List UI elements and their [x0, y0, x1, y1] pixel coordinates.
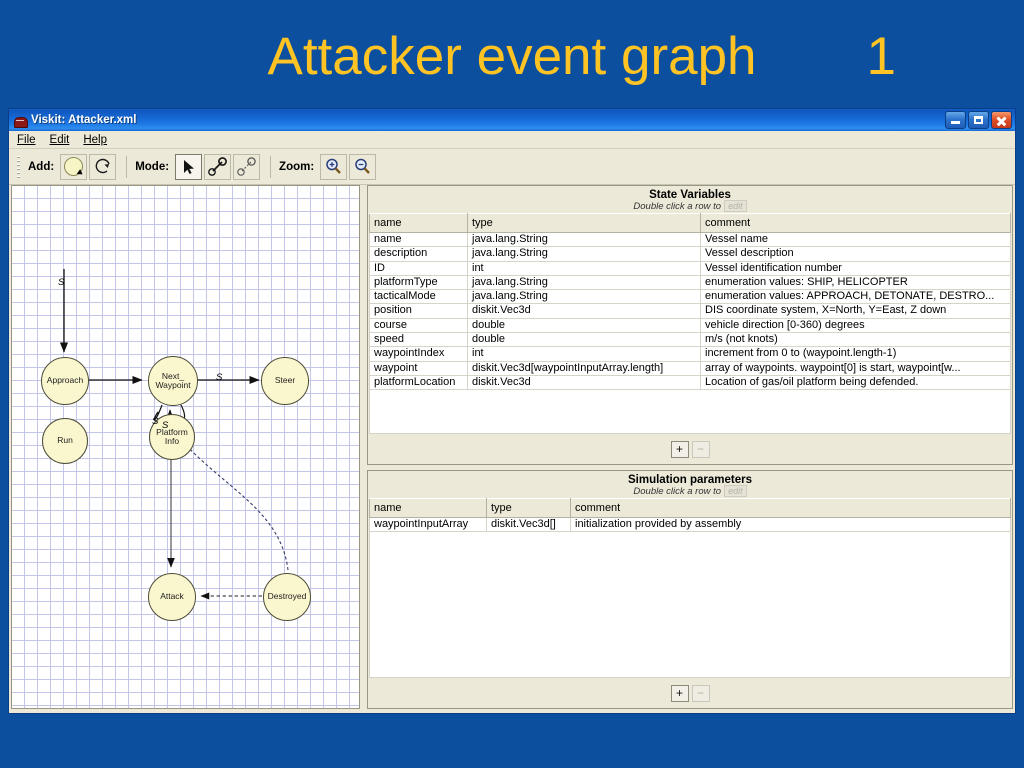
state-variables-subtitle: Double click a row to edit: [368, 200, 1012, 212]
cell-name: waypoint: [370, 361, 468, 375]
state-variables-edit-badge: edit: [724, 200, 747, 212]
add-self-edge-icon: [93, 157, 113, 177]
add-node-icon: [64, 157, 83, 176]
cell-type: diskit.Vec3d[waypointInputArray.length]: [468, 361, 701, 375]
mode-cancelling-edge-button[interactable]: [233, 154, 260, 180]
state-variables-table[interactable]: name type comment namejava.lang.StringVe…: [369, 213, 1011, 390]
zoom-out-icon: [353, 157, 372, 176]
column-header-name[interactable]: name: [370, 499, 487, 518]
toolbar-add-label: Add:: [28, 161, 54, 173]
cell-type: diskit.Vec3d: [468, 375, 701, 389]
cell-type: double: [468, 318, 701, 332]
graph-node-label: Destroyed: [268, 592, 307, 602]
simulation-parameters-edit-badge: edit: [724, 485, 747, 497]
table-row[interactable]: positiondiskit.Vec3dDIS coordinate syste…: [370, 304, 1011, 318]
graph-node-label: Platform Info: [156, 428, 188, 447]
cell-type: diskit.Vec3d: [468, 304, 701, 318]
toolbar: Add: Mode:: [9, 149, 1015, 185]
window-controls: [945, 111, 1012, 129]
table-row[interactable]: waypointIndexintincrement from 0 to (way…: [370, 347, 1011, 361]
table-row[interactable]: IDintVessel identification number: [370, 261, 1011, 275]
state-variables-remove-button[interactable]: −: [692, 441, 710, 458]
state-variables-buttons: + −: [368, 434, 1012, 464]
simulation-parameters-header: Simulation parameters Double click a row…: [368, 471, 1012, 498]
cell-type: java.lang.String: [468, 247, 701, 261]
cell-name: name: [370, 233, 468, 247]
app-icon: [13, 113, 27, 127]
graph-node-approach[interactable]: Approach: [41, 357, 89, 405]
toolbar-zoom-label: Zoom:: [279, 161, 314, 173]
pane-splitter[interactable]: [360, 185, 367, 709]
graph-node-label: Steer: [275, 376, 295, 386]
column-header-comment[interactable]: comment: [571, 499, 1011, 518]
cell-name: waypointInputArray: [370, 518, 487, 532]
simulation-parameters-subtitle: Double click a row to edit: [368, 485, 1012, 497]
column-header-type[interactable]: type: [487, 499, 571, 518]
cell-name: description: [370, 247, 468, 261]
cell-comment: enumeration values: APPROACH, DETONATE, …: [701, 290, 1011, 304]
table-row[interactable]: tacticalModejava.lang.Stringenumeration …: [370, 290, 1011, 304]
menu-edit-label: Edit: [50, 134, 70, 146]
edge-label: S: [216, 372, 222, 383]
graph-node-label: Attack: [160, 592, 184, 602]
cell-comment: Location of gas/oil platform being defen…: [701, 375, 1011, 389]
zoom-out-button[interactable]: [349, 154, 376, 180]
maximize-button[interactable]: [968, 111, 989, 129]
main-split: Run Platform Info Approach Next_ Waypoin…: [11, 185, 1013, 709]
state-variables-body: namejava.lang.StringVessel name descript…: [370, 233, 1011, 390]
right-pane: State Variables Double click a row to ed…: [367, 185, 1013, 709]
simulation-parameters-table-wrap: name type comment waypointInputArray dis…: [369, 498, 1011, 532]
cell-comment: initialization provided by assembly: [571, 518, 1011, 532]
simulation-parameters-add-button[interactable]: +: [671, 685, 689, 702]
menu-item-file[interactable]: File: [17, 134, 36, 146]
graph-node-label: Approach: [47, 376, 83, 386]
toolbar-separator-2: [270, 156, 271, 178]
graph-node-label: Next_ Waypoint: [155, 372, 190, 391]
table-row[interactable]: platformTypejava.lang.Stringenumeration …: [370, 275, 1011, 289]
edge-label: S: [58, 277, 64, 288]
table-row[interactable]: speeddoublem/s (not knots): [370, 333, 1011, 347]
cell-type: java.lang.String: [468, 233, 701, 247]
state-variables-header: State Variables Double click a row to ed…: [368, 186, 1012, 213]
cell-name: course: [370, 318, 468, 332]
viskit-window: Viskit: Attacker.xml File Edit Help Add:…: [8, 108, 1016, 714]
cell-comment: enumeration values: SHIP, HELICOPTER: [701, 275, 1011, 289]
simulation-parameters-body: waypointInputArray diskit.Vec3d[] initia…: [370, 518, 1011, 532]
column-header-comment[interactable]: comment: [701, 214, 1011, 233]
table-row[interactable]: descriptionjava.lang.StringVessel descri…: [370, 247, 1011, 261]
cell-comment: DIS coordinate system, X=North, Y=East, …: [701, 304, 1011, 318]
simulation-parameters-empty-area[interactable]: [369, 532, 1011, 678]
state-variables-subtitle-text: Double click a row to: [633, 201, 721, 212]
menu-file-label: File: [17, 134, 36, 146]
column-header-name[interactable]: name: [370, 214, 468, 233]
cell-name: platformLocation: [370, 375, 468, 389]
toolbar-grip[interactable]: [17, 156, 20, 178]
cell-type: int: [468, 261, 701, 275]
simulation-parameters-panel: Simulation parameters Double click a row…: [367, 470, 1013, 709]
minimize-button[interactable]: [945, 111, 966, 129]
graph-node-next-waypoint[interactable]: Next_ Waypoint: [148, 356, 198, 406]
select-arrow-icon: [180, 158, 198, 176]
cell-comment: m/s (not knots): [701, 333, 1011, 347]
simulation-parameters-subtitle-text: Double click a row to: [633, 486, 721, 497]
state-variables-empty-area[interactable]: [369, 390, 1011, 434]
cell-comment: vehicle direction [0-360) degrees: [701, 318, 1011, 332]
cell-type: java.lang.String: [468, 290, 701, 304]
edge-label: S: [152, 416, 158, 427]
add-self-edge-button[interactable]: [89, 154, 116, 180]
table-header-row: name type comment: [370, 214, 1011, 233]
event-graph-canvas[interactable]: Run Platform Info Approach Next_ Waypoin…: [11, 185, 360, 709]
zoom-in-button[interactable]: [320, 154, 347, 180]
table-header-row: name type comment: [370, 499, 1011, 518]
cell-name: platformType: [370, 275, 468, 289]
cell-name: speed: [370, 333, 468, 347]
cell-name: position: [370, 304, 468, 318]
toolbar-separator-1: [126, 156, 127, 178]
mode-scheduling-edge-button[interactable]: [204, 154, 231, 180]
state-variables-add-button[interactable]: +: [671, 441, 689, 458]
table-row[interactable]: namejava.lang.StringVessel name: [370, 233, 1011, 247]
graph-node-attack[interactable]: Attack: [148, 573, 196, 621]
toolbar-mode-label: Mode:: [135, 161, 169, 173]
add-node-button[interactable]: [60, 154, 87, 180]
table-row[interactable]: waypointdiskit.Vec3d[waypointInputArray.…: [370, 361, 1011, 375]
column-header-type[interactable]: type: [468, 214, 701, 233]
cell-comment: array of waypoints. waypoint[0] is start…: [701, 361, 1011, 375]
close-button[interactable]: [991, 111, 1012, 129]
graph-node-destroyed[interactable]: Destroyed: [263, 573, 311, 621]
cell-type: int: [468, 347, 701, 361]
simulation-parameters-table[interactable]: name type comment waypointInputArray dis…: [369, 498, 1011, 532]
cell-comment: Vessel name: [701, 233, 1011, 247]
cell-type: java.lang.String: [468, 275, 701, 289]
cell-comment: Vessel identification number: [701, 261, 1011, 275]
graph-node-steer[interactable]: Steer: [261, 357, 309, 405]
cell-comment: Vessel description: [701, 247, 1011, 261]
scheduling-edge-icon: [207, 156, 228, 177]
simulation-parameters-buttons: + −: [368, 678, 1012, 708]
menu-bar: File Edit Help: [9, 131, 1015, 149]
menu-item-edit[interactable]: Edit: [50, 134, 70, 146]
edge-label: S: [162, 420, 168, 431]
mode-select-button[interactable]: [175, 154, 202, 180]
table-row[interactable]: waypointInputArray diskit.Vec3d[] initia…: [370, 518, 1011, 532]
window-titlebar[interactable]: Viskit: Attacker.xml: [9, 109, 1015, 131]
menu-help-label: Help: [83, 134, 107, 146]
cell-type: double: [468, 333, 701, 347]
cell-comment: increment from 0 to (waypoint.length-1): [701, 347, 1011, 361]
window-title: Viskit: Attacker.xml: [31, 114, 136, 126]
zoom-in-icon: [324, 157, 343, 176]
slide-number: 1: [867, 22, 896, 92]
cancelling-edge-icon: [236, 156, 257, 177]
simulation-parameters-remove-button[interactable]: −: [692, 685, 710, 702]
state-variables-panel: State Variables Double click a row to ed…: [367, 185, 1013, 465]
state-variables-table-wrap: name type comment namejava.lang.StringVe…: [369, 213, 1011, 390]
menu-item-help[interactable]: Help: [83, 134, 107, 146]
cell-name: waypointIndex: [370, 347, 468, 361]
table-row[interactable]: coursedoublevehicle direction [0-360) de…: [370, 318, 1011, 332]
graph-node-run[interactable]: Run: [42, 418, 88, 464]
graph-node-label: Run: [57, 436, 73, 446]
table-row[interactable]: platformLocationdiskit.Vec3dLocation of …: [370, 375, 1011, 389]
cell-name: ID: [370, 261, 468, 275]
cell-name: tacticalMode: [370, 290, 468, 304]
cell-type: diskit.Vec3d[]: [487, 518, 571, 532]
